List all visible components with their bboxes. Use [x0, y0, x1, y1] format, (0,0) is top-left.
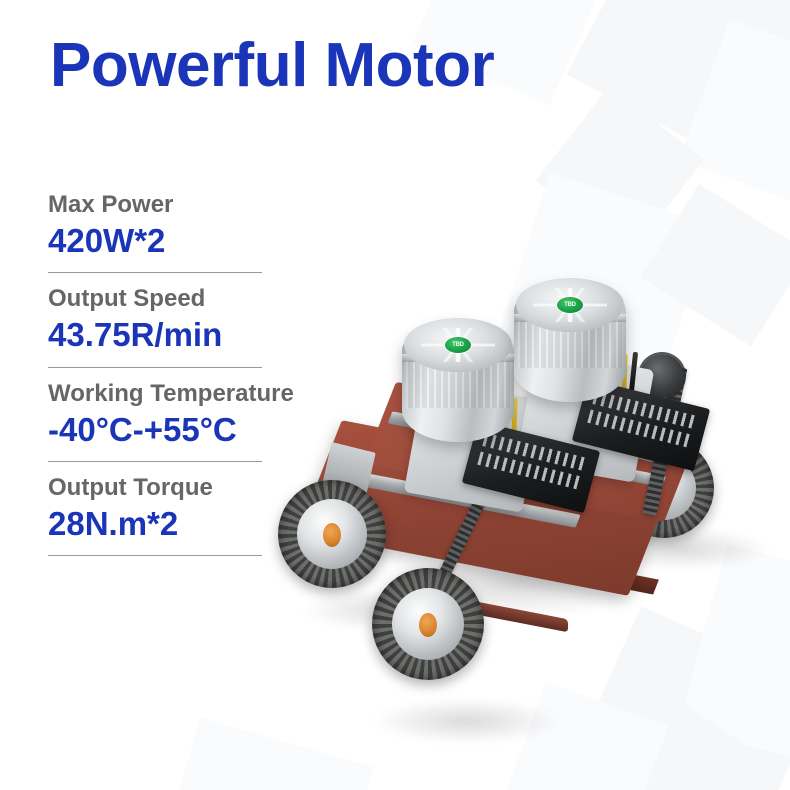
motor-badge: TBD	[557, 297, 583, 313]
page-title: Powerful Motor	[50, 33, 494, 98]
motor-cap: TBD	[404, 317, 512, 372]
motor-cylinder-right: TBD	[514, 280, 626, 402]
wheel-front-left	[278, 480, 386, 588]
spec-divider	[48, 272, 262, 273]
spec-divider	[48, 555, 262, 556]
spec-label: Max Power	[48, 190, 348, 220]
motor-badge: TBD	[445, 337, 471, 353]
spec-divider	[48, 367, 262, 368]
spec-divider	[48, 461, 262, 462]
spec-value: 420W*2	[48, 221, 348, 261]
wheel-front-right	[372, 568, 484, 680]
spec-item-max-power: Max Power 420W*2	[48, 190, 348, 261]
motor-cylinder-left: TBD	[402, 320, 514, 442]
wheel-shadow	[372, 698, 562, 744]
hub	[323, 523, 341, 547]
product-image-dual-geared-motor-chassis: TBD TBD	[262, 258, 790, 768]
motor-cap: TBD	[516, 277, 624, 332]
marketing-banner: Powerful Motor Max Power 420W*2 Output S…	[0, 0, 790, 790]
hub	[419, 613, 437, 637]
